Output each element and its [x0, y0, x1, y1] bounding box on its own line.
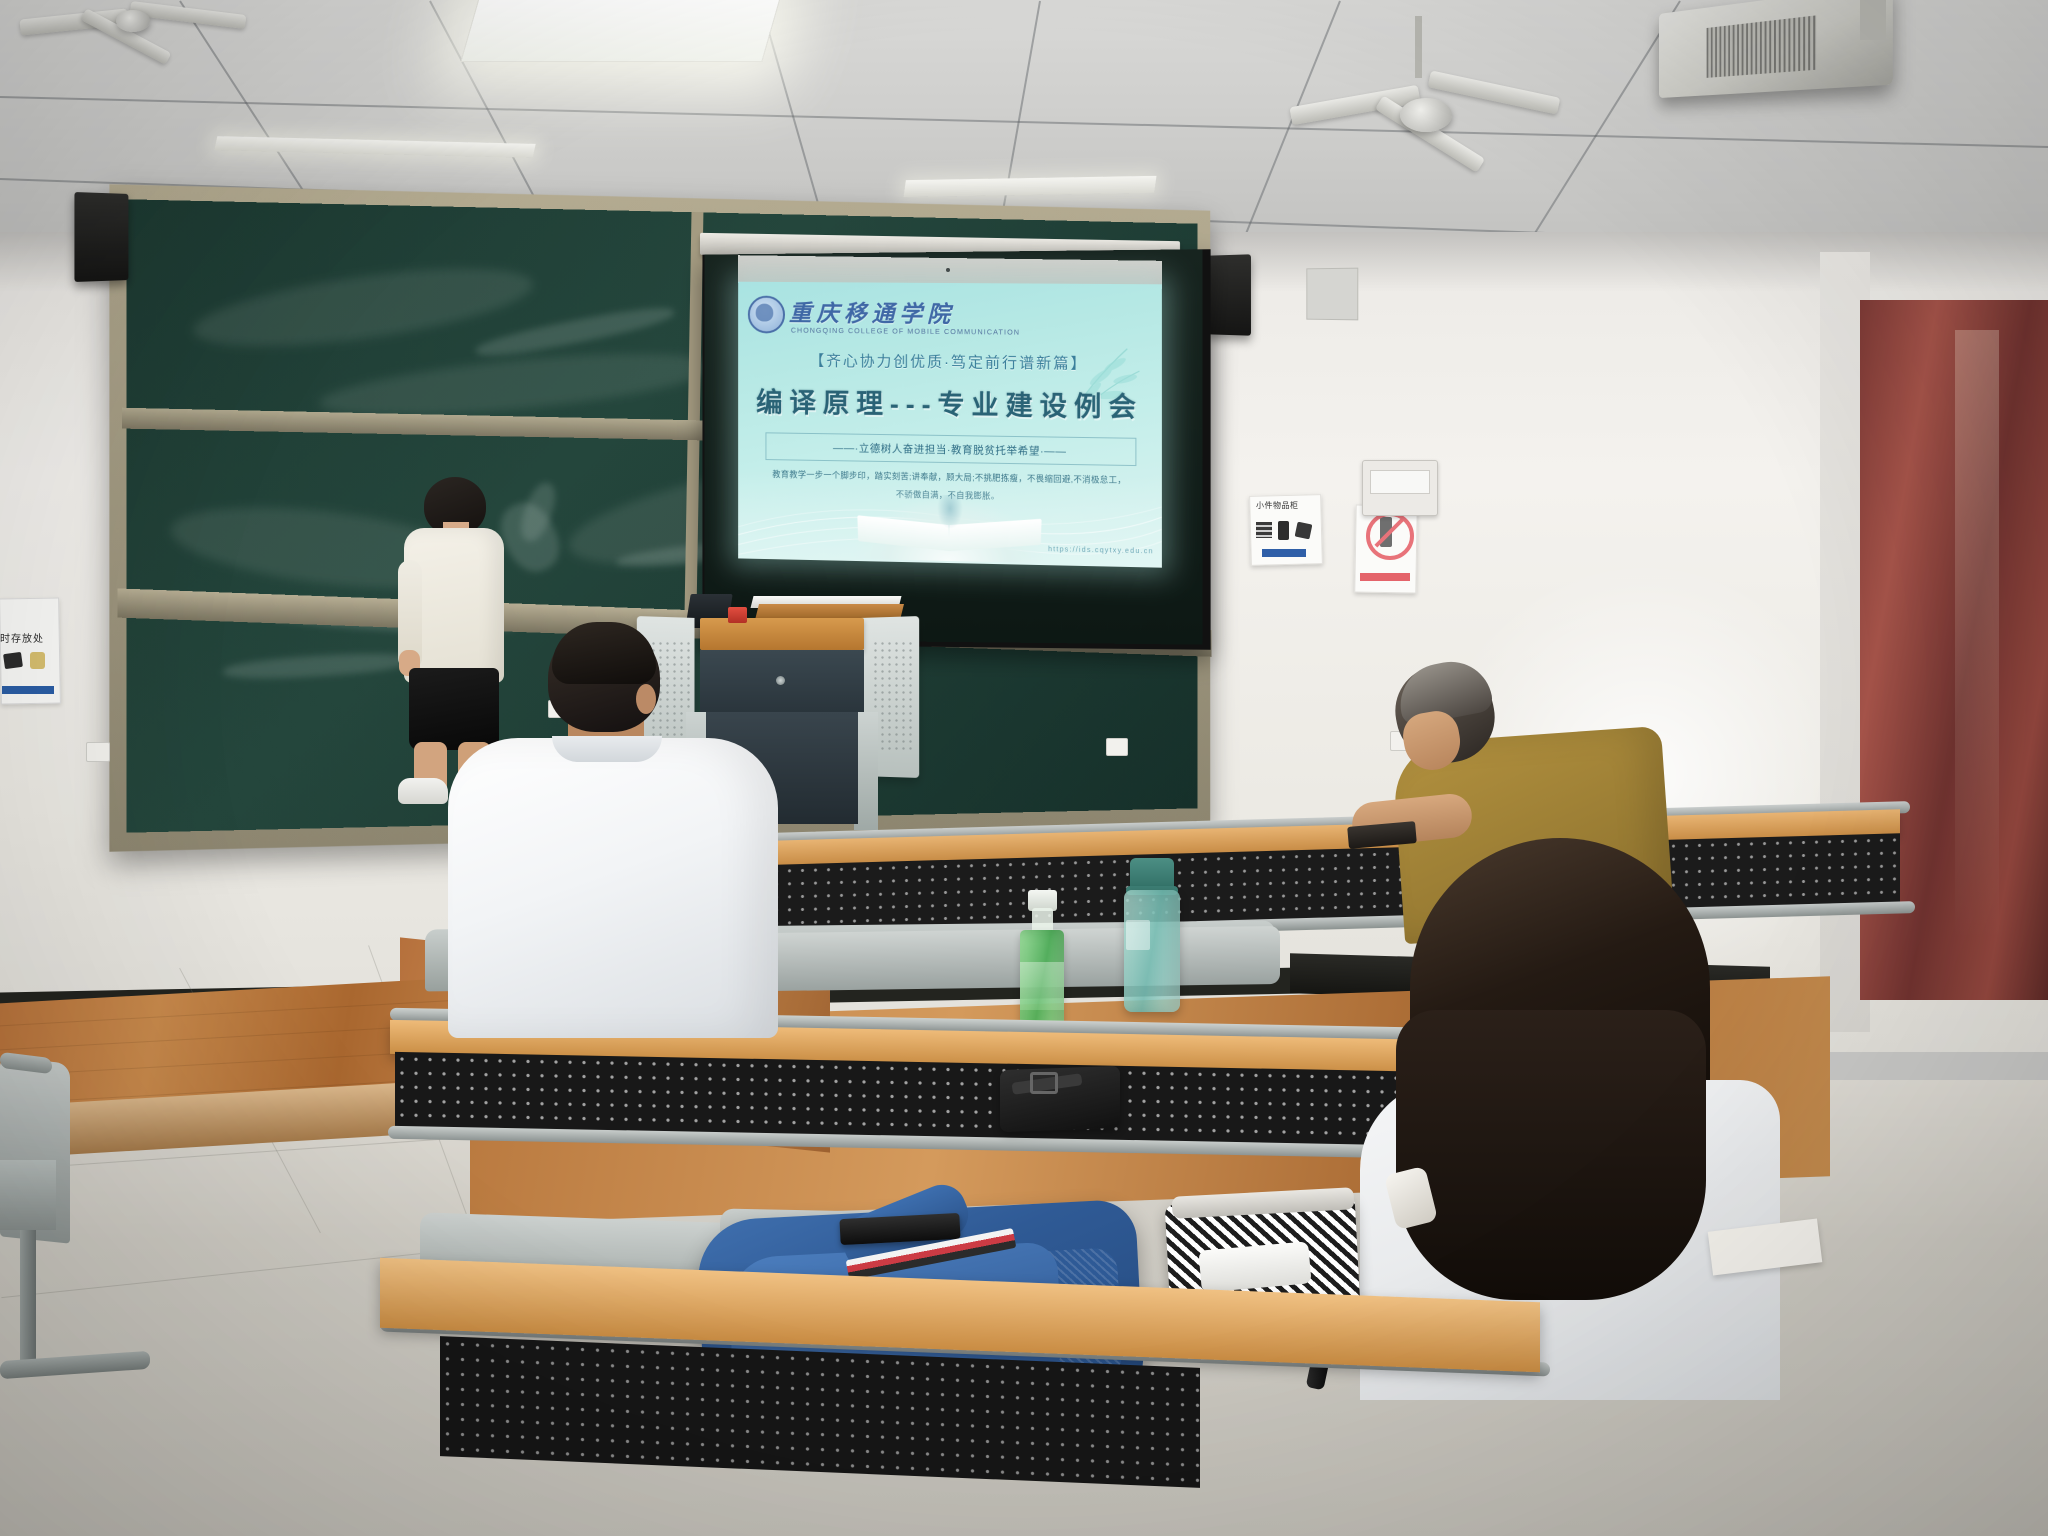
- school-name-cn: 重庆移通学院: [789, 294, 955, 329]
- presentation-slide: 重庆移通学院 CHONGQING COLLEGE OF MOBILE COMMU…: [738, 282, 1162, 568]
- locker-sign-badge: [1262, 549, 1306, 557]
- slide-subtitle-box: ——·立德树人奋进担当·教育脱贫托举希望·——: [765, 432, 1136, 466]
- bird-graphic: [937, 495, 963, 529]
- person-center-shirt: [448, 738, 778, 1038]
- green-bottle-label: [1020, 962, 1064, 1010]
- sport-water-bottle[interactable]: [1124, 890, 1180, 1012]
- podium-lock-icon[interactable]: [776, 676, 785, 685]
- ceiling-fan-right: [1290, 72, 1560, 182]
- slide-subtitle-text: ——·立德树人奋进担当·教育脱贫托举希望·——: [833, 440, 1067, 459]
- prohibition-circle-icon: [1366, 512, 1414, 560]
- slide-dot: [946, 268, 950, 272]
- person-center-ear: [636, 684, 656, 714]
- person-at-blackboard-shoe: [398, 778, 448, 804]
- ceiling-light-fixture: [460, 0, 781, 62]
- school-logo-emblem: [756, 304, 774, 322]
- red-cup[interactable]: [728, 607, 747, 623]
- door-highlight: [1955, 330, 1999, 940]
- chair-post: [20, 1230, 36, 1370]
- locker-sign-icons: [1256, 520, 1314, 542]
- wall-box: [1306, 268, 1358, 321]
- wall-socket[interactable]: [1106, 738, 1128, 756]
- storage-sign-icons: [4, 650, 54, 672]
- classroom-photo: 重庆移通学院 CHONGQING COLLEGE OF MOBILE COMMU…: [0, 0, 2048, 1536]
- slide-slogan: 【齐心协力创优质·笃定前行谱新篇】: [738, 349, 1162, 374]
- slide-title: 编译原理---专业建设例会: [738, 381, 1162, 425]
- locker-sign-title: 小件物品柜: [1256, 500, 1299, 511]
- person-at-blackboard-shorts: [409, 668, 499, 750]
- belt-bag-buckle-icon: [1030, 1072, 1058, 1094]
- wall-socket[interactable]: [86, 742, 110, 762]
- school-name-en: CHONGQING COLLEGE OF MOBILE COMMUNICATIO…: [791, 326, 1020, 337]
- projector-mount: [1860, 0, 1886, 40]
- person-bottom-right-hair: [1396, 1010, 1706, 1300]
- seat-back-row-mid[interactable]: [700, 926, 1280, 992]
- no-phone-sign-badge: [1360, 573, 1410, 581]
- storage-sign-title: 时存放处: [0, 630, 56, 645]
- fan-mount-rod: [1415, 16, 1422, 78]
- electrical-panel-display: [1370, 470, 1430, 494]
- storage-sign-badge: [2, 686, 54, 694]
- podium-wood-panel: [700, 618, 864, 650]
- wall-speaker-left: [74, 192, 128, 282]
- person-center-collar: [552, 736, 662, 762]
- chair-seat[interactable]: [0, 1160, 56, 1230]
- podium-right-speaker-grille: [872, 640, 912, 750]
- wall-speaker-right: [1208, 254, 1251, 335]
- ceiling-fan-left: [20, 0, 250, 64]
- sport-bottle-label: [1126, 920, 1150, 950]
